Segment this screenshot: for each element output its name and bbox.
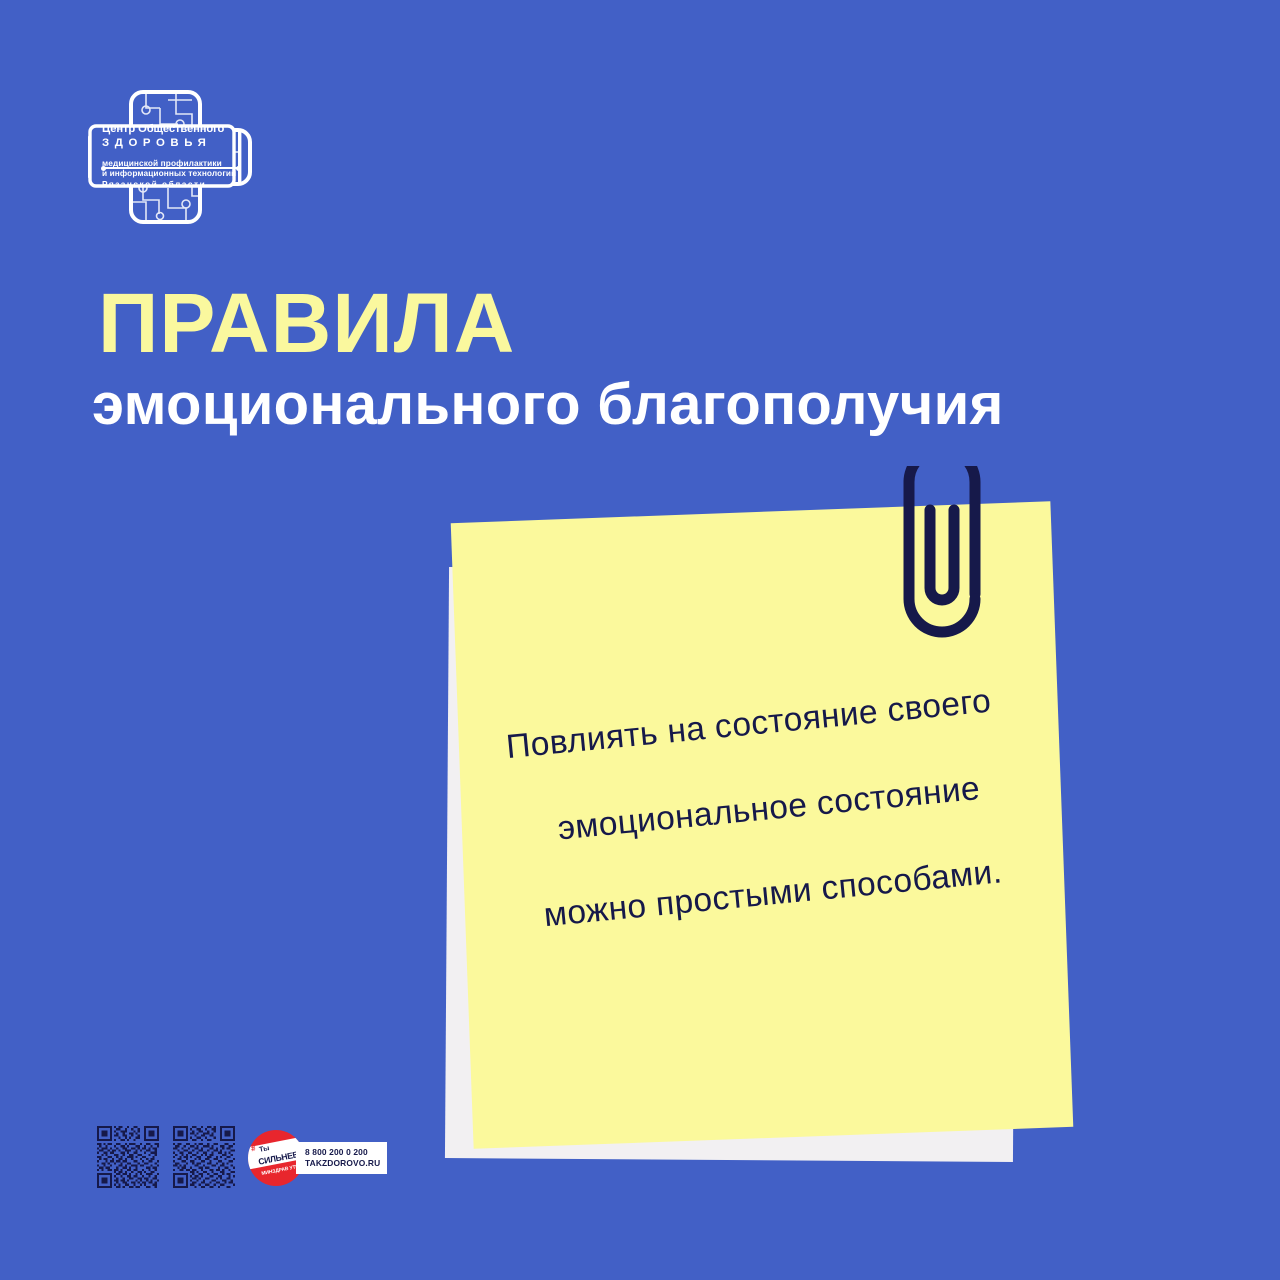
sticky-note-text: Повлиять на состояние своего эмоциональн… [451,679,1073,992]
footer-bar: # Ты СИЛЬНЕЕ МИНЗДРАВ УТВЕРЖДАЕТ! 8 800 … [97,1126,387,1198]
medical-cross-circuit-icon [88,84,258,229]
note-line: Повлиять на состояние своего [451,679,1051,770]
note-line: можно простыми способами. [468,849,1068,940]
organization-logo: Центр Общественного ЗДОРОВЬЯ медицинской… [88,84,258,229]
qr-code-2[interactable] [173,1126,235,1188]
badge-line-1: Ты [258,1143,270,1154]
qr-code-1[interactable] [97,1126,159,1188]
poster-canvas: Центр Общественного ЗДОРОВЬЯ медицинской… [0,0,1280,1280]
website-url: TAKZDOROVO.RU [305,1158,380,1169]
hotline-phone: 8 800 200 0 200 [305,1147,380,1158]
note-line: эмоциональное состояние [460,764,1060,855]
paperclip-icon [893,466,991,641]
page-subtitle: эмоционального благополучия [92,376,1004,434]
contact-info-box: 8 800 200 0 200 TAKZDOROVO.RU [296,1142,387,1174]
page-title: ПРАВИЛА [98,281,515,365]
